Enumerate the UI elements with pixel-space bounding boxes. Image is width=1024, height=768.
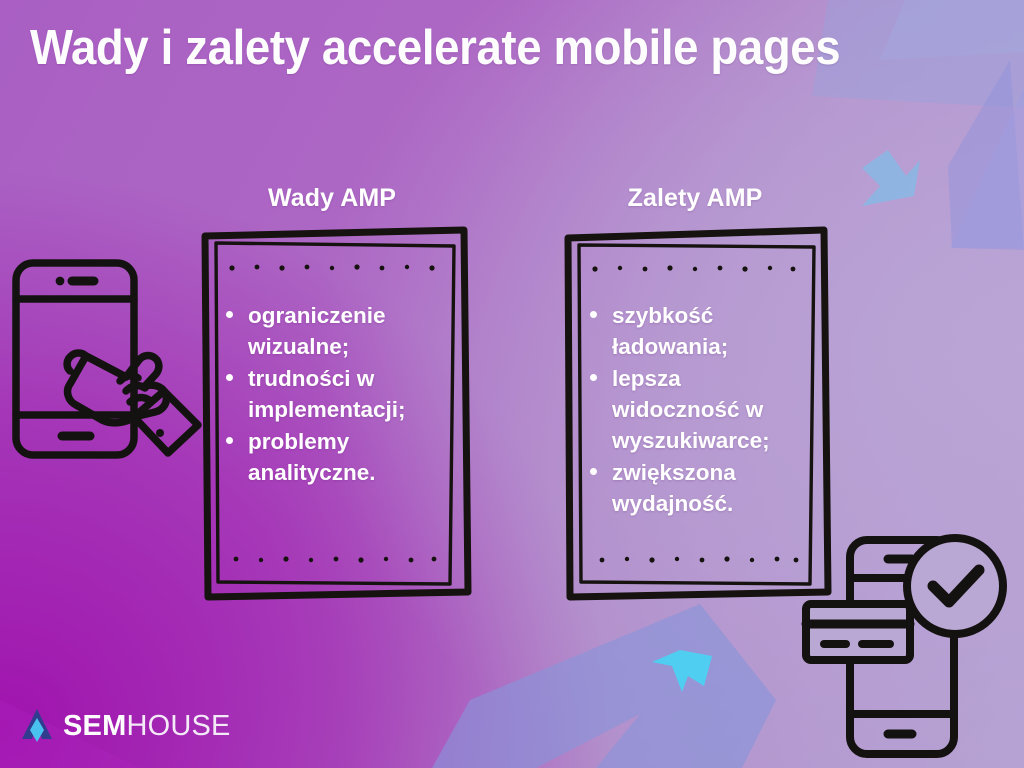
semhouse-logo[interactable]: SEMHOUSE bbox=[22, 706, 231, 746]
dotted-row-bottom bbox=[234, 556, 437, 562]
list-item: lepsza widoczność w wyszukiwarce; bbox=[586, 363, 814, 456]
card-zalety-amp: szybkość ładowania; lepsza widoczność w … bbox=[560, 226, 832, 598]
hand-finger-3 bbox=[130, 398, 149, 402]
list-item: szybkość ładowania; bbox=[586, 300, 814, 362]
card-body-zalety: szybkość ładowania; lepsza widoczność w … bbox=[586, 300, 814, 520]
list-item: ograniczenie wizualne; bbox=[222, 300, 454, 362]
list-item: trudności w implementacji; bbox=[222, 363, 454, 425]
card-body-wady: ograniczenie wizualne; trudności w imple… bbox=[222, 300, 454, 489]
semhouse-wordmark: SEMHOUSE bbox=[63, 712, 231, 741]
list-item: zwiększona wydajność. bbox=[586, 457, 814, 519]
credit-card bbox=[806, 604, 910, 660]
dotted-row-top bbox=[592, 265, 795, 271]
phone-camera-dot bbox=[56, 277, 65, 286]
phone-tap-hand-icon bbox=[8, 255, 204, 463]
check-circle bbox=[907, 538, 1003, 634]
dotted-row-bottom bbox=[600, 556, 799, 562]
shape-arrow-bottom bbox=[432, 604, 776, 768]
page-title: Wady i zalety accelerate mobile pages bbox=[30, 22, 941, 76]
card-wady-amp: ograniczenie wizualne; trudności w imple… bbox=[196, 226, 472, 598]
list-item: problemy analityczne. bbox=[222, 426, 454, 488]
bullet-list-zalety: szybkość ładowania; lepsza widoczność w … bbox=[586, 300, 814, 519]
semhouse-diamond-arrow-icon bbox=[22, 709, 52, 743]
logo-text-house: HOUSE bbox=[126, 710, 230, 742]
card-heading-wady: Wady AMP bbox=[197, 184, 467, 213]
hand-finger-1 bbox=[120, 376, 138, 381]
shape-chevron-cyan-topright bbox=[862, 150, 920, 206]
cuff-button bbox=[156, 429, 164, 437]
dotted-row-top bbox=[229, 264, 434, 270]
logo-text-sem: SEM bbox=[63, 710, 126, 742]
bullet-list-wady: ograniczenie wizualne; trudności w imple… bbox=[222, 300, 454, 488]
card-heading-zalety: Zalety AMP bbox=[560, 184, 830, 213]
